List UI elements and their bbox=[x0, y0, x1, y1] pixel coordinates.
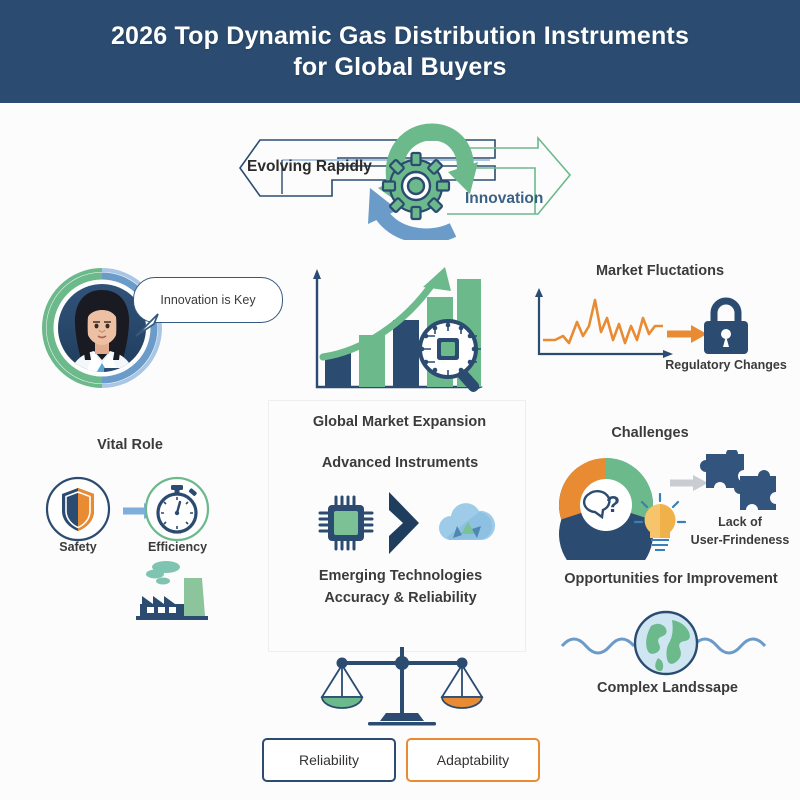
option-reliability-label: Reliability bbox=[299, 752, 359, 768]
challenges-footer: Opportunities for Improvement bbox=[556, 571, 786, 587]
instruments-subtitle-2: Accuracy & Reliability bbox=[298, 590, 503, 606]
puzzle-pieces-icon bbox=[700, 450, 780, 522]
speech-bubble-text: Innovation is Key bbox=[160, 293, 255, 307]
challenges-title: Challenges bbox=[570, 425, 730, 441]
microchip-icon bbox=[318, 495, 374, 551]
puzzle-label-line-2: User-Frindeness bbox=[673, 533, 800, 547]
instruments-title: Advanced Instruments bbox=[310, 455, 490, 471]
shield-icon bbox=[44, 475, 112, 543]
infographic-canvas: 2026 Top Dynamic Gas Distribution Instru… bbox=[0, 0, 800, 800]
page-header: 2026 Top Dynamic Gas Distribution Instru… bbox=[0, 0, 800, 103]
efficiency-label: Efficiency bbox=[130, 540, 225, 554]
magnifier-chip-icon bbox=[415, 318, 495, 398]
option-adaptability-label: Adaptability bbox=[437, 752, 509, 768]
svg-text:?: ? bbox=[606, 491, 620, 517]
safety-label: Safety bbox=[38, 540, 118, 554]
lightbulb-icon bbox=[631, 490, 689, 556]
balance-scale-icon bbox=[320, 645, 485, 730]
option-adaptability[interactable]: Adaptability bbox=[406, 738, 540, 782]
cloud-sync-icon bbox=[435, 498, 497, 548]
padlock-icon bbox=[697, 295, 755, 357]
stopwatch-icon bbox=[143, 475, 211, 543]
vital-role-title: Vital Role bbox=[40, 437, 220, 453]
cycle-left-label: Evolving Rapidly bbox=[247, 158, 372, 176]
chevron-right-icon bbox=[383, 490, 427, 556]
puzzle-label-line-1: Lack of bbox=[685, 515, 795, 529]
instruments-subtitle-1: Emerging Technologies bbox=[298, 568, 503, 584]
option-reliability[interactable]: Reliability bbox=[262, 738, 396, 782]
market-title: Global Market Expansion bbox=[312, 414, 487, 430]
fluctuations-title: Market Fluctations bbox=[590, 263, 730, 279]
cycle-right-label: Innovation bbox=[465, 190, 543, 208]
globe-icon bbox=[631, 608, 701, 678]
fluctuations-caption: Regulatory Changes bbox=[650, 358, 800, 372]
speech-bubble-tail bbox=[130, 312, 160, 338]
gear-icon bbox=[380, 150, 452, 222]
landscape-label: Complex Landssape bbox=[560, 680, 775, 696]
page-title-line-1: 2026 Top Dynamic Gas Distribution Instru… bbox=[111, 21, 689, 52]
factory-icon bbox=[126, 560, 216, 622]
page-title-line-2: for Global Buyers bbox=[293, 52, 506, 83]
